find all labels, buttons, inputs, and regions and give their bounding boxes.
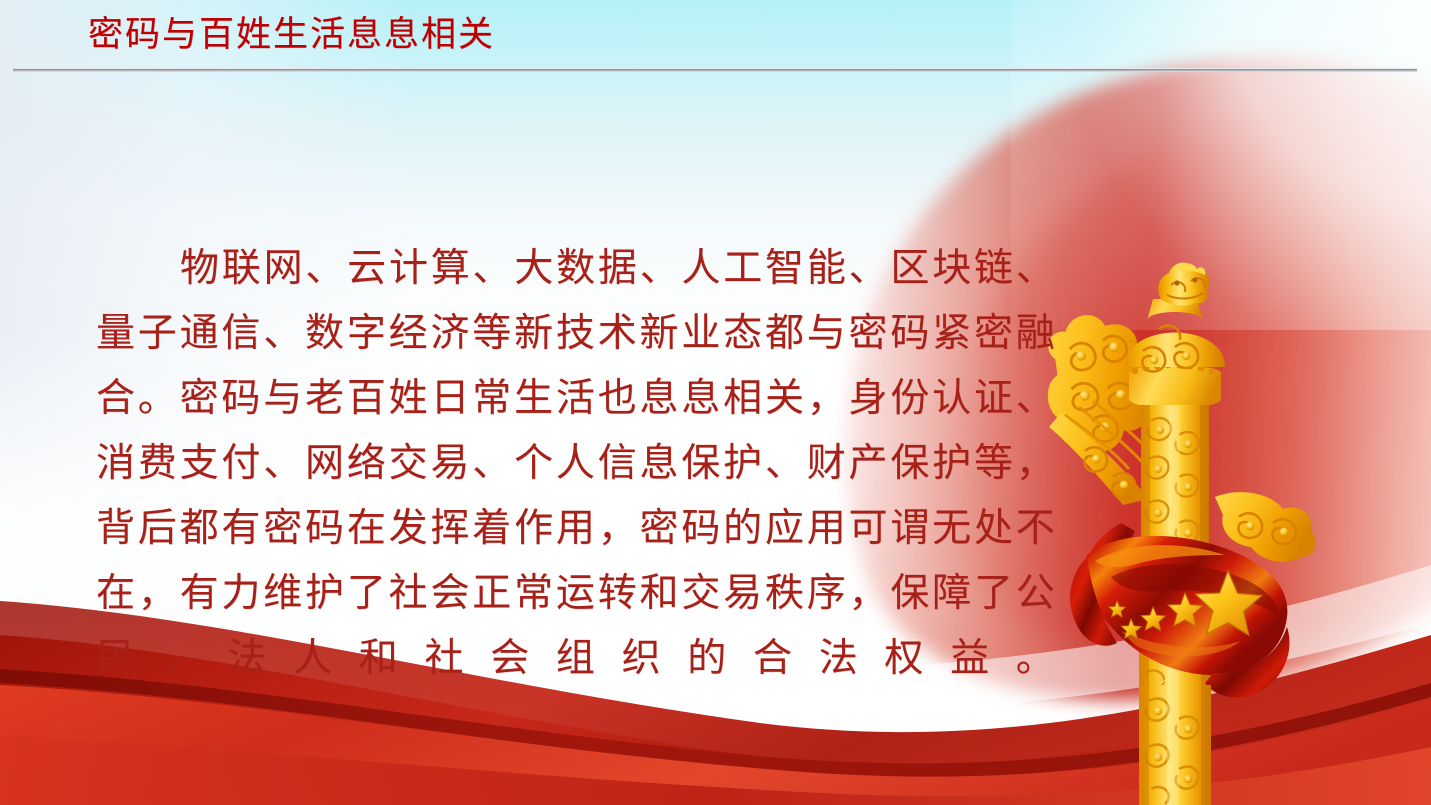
slide-canvas: 密码与百姓生活息息相关 物联网、云计算、大数据、人工智能、区块链、量子通信、数字… [0,0,1431,805]
pillar-shaft-foreground [1139,685,1211,805]
lion-finial [1158,263,1209,306]
slide-title: 密码与百姓生活息息相关 [88,12,495,58]
golden-huabiao-monument [1025,255,1355,805]
title-divider-rule [13,68,1417,72]
body-paragraph: 物联网、云计算、大数据、人工智能、区块链、量子通信、数字经济等新技术新业态都与密… [96,236,1056,756]
pillar-capital [1125,299,1225,408]
